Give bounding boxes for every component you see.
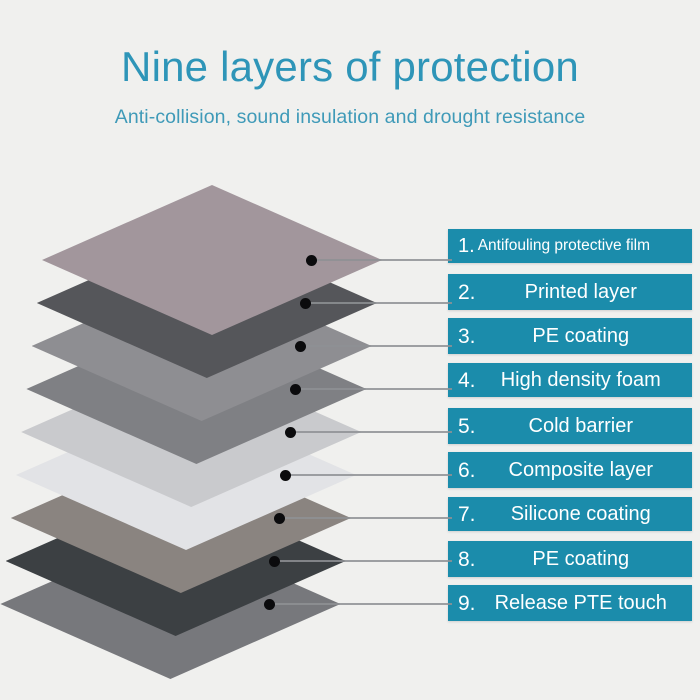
leader-line-9 [272,603,452,605]
layer-stack-diagram [0,185,440,645]
layer-label-number: 3. [458,326,476,347]
layer-label-3[interactable]: 3.PE coating [448,318,692,354]
leader-line-2 [308,302,452,304]
layer-label-7[interactable]: 7.Silicone coating [448,497,692,531]
layer-label-number: 5. [458,416,476,437]
layer-label-text: Antifouling protective film [475,238,686,254]
layer-label-number: 7. [458,504,476,525]
leader-dot-5 [285,427,296,438]
layer-label-text: PE coating [476,326,686,346]
layer-label-4[interactable]: 4.High density foam [448,363,692,397]
layer-label-number: 1. [458,236,475,256]
leader-line-6 [288,474,453,476]
layer-label-1[interactable]: 1.Antifouling protective film [448,229,692,263]
layer-label-6[interactable]: 6.Composite layer [448,452,692,488]
layer-label-9[interactable]: 9.Release PTE touch [448,585,692,621]
infographic-root: Nine layers of protection Anti-collision… [0,0,700,700]
leader-dot-4 [290,384,301,395]
layer-label-text: PE coating [476,549,686,569]
layer-label-list: 1.Antifouling protective film2.Printed l… [440,0,700,700]
layer-label-text: High density foam [476,370,686,390]
leader-line-8 [277,560,452,562]
layer-label-number: 8. [458,549,476,570]
layer-label-text: Silicone coating [476,504,686,524]
leader-line-3 [303,345,452,347]
leader-line-4 [298,388,452,390]
leader-line-5 [293,431,452,433]
layer-label-text: Composite layer [476,460,686,480]
layer-label-2[interactable]: 2.Printed layer [448,274,692,310]
layer-label-number: 9. [458,593,476,614]
leader-dot-1 [306,255,317,266]
leader-line-1 [314,259,453,261]
layer-label-number: 2. [458,282,476,303]
layer-label-5[interactable]: 5.Cold barrier [448,408,692,444]
leader-dot-9 [264,599,275,610]
layer-label-text: Cold barrier [476,416,686,436]
layer-label-number: 4. [458,370,476,391]
layer-label-text: Printed layer [476,282,686,302]
layer-label-8[interactable]: 8.PE coating [448,541,692,577]
leader-line-7 [282,517,452,519]
layer-label-text: Release PTE touch [476,593,686,613]
leader-dot-6 [280,470,291,481]
layer-label-number: 6. [458,460,476,481]
